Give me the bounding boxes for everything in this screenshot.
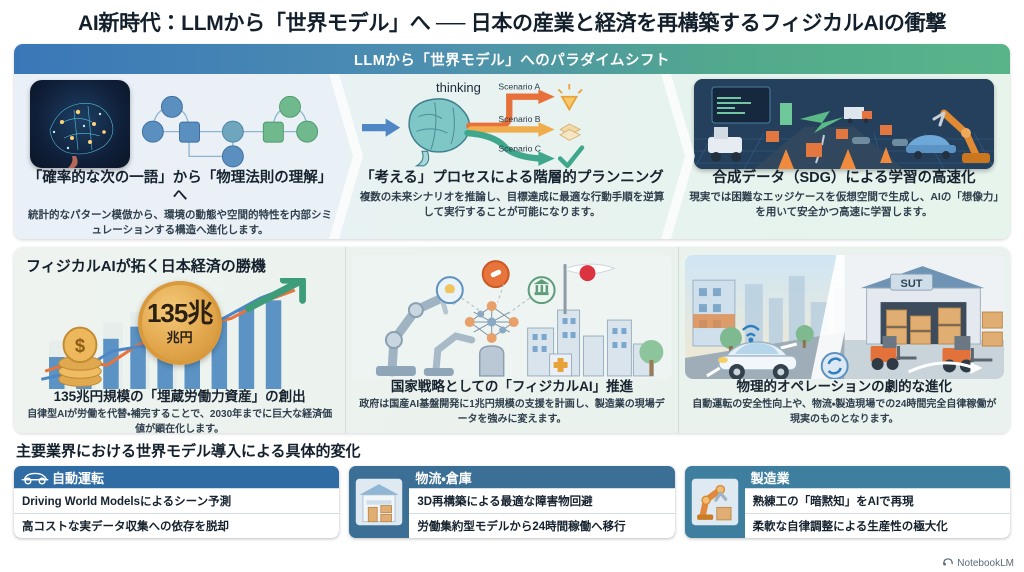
panel3-body: 現実では困難なエッジケースを仮想空間で生成し、AIの「想像力」を用いて安全かつ高… (688, 190, 1000, 220)
panel-national-strategy: 国家戦略としての「フィジカルAI」推進 政府は国産AI基盤開発に1兆円規模の支援… (345, 247, 677, 433)
panel3-heading: 合成データ（SDG）による学習の高速化 (688, 169, 1000, 187)
panel4-body: 自律型AIが労働を代替・補完することで、2030年までに巨大な経済価値が顕在化し… (26, 408, 333, 433)
card1-business-value: 高コストな実データ収集への依存を脱却 (14, 518, 229, 534)
watermark-text: NotebookLM (957, 558, 1014, 569)
panel4-caption: 135兆円規模の「埋蔵労働力資産」の創出 自律型AIが労働を代替・補完することで… (20, 389, 339, 433)
panel5-body: 政府は国産AI基盤開発に1兆円規模の支援を計画し、製造業の現場データを強みに変え… (358, 398, 665, 427)
robot-arm-icon (685, 466, 745, 538)
card2-body: 物流・倉庫 3D再構築による最適な障害物回避 労働集約型モデルから24時間稼働へ… (409, 466, 674, 538)
panel1-caption: 「確率的な次の一語」から「物理法則の理解」へ 統計的なパターン模倣から、環境の動… (14, 169, 346, 239)
card3-header: 製造業 (745, 466, 1010, 488)
svg-text:Scenario A: Scenario A (498, 81, 540, 91)
autonomous-driving-warehouse-icon: SUT (685, 255, 1004, 379)
car-icon (20, 469, 46, 485)
thinking-label: thinking (436, 80, 481, 95)
card2-business-value: 労働集約型モデルから24時間稼働へ移行 (409, 518, 625, 534)
table-row: 技術的変化 Driving World Modelsによるシーン予測 (14, 488, 339, 513)
card-manufacturing[interactable]: 製造業 熟練工の「暗黙知」をAIで再現 柔軟な自律調整による生産性の極大化 (685, 466, 1010, 538)
svg-text:Scenario C: Scenario C (498, 143, 541, 153)
card3-tech-value: 熟練工の「暗黙知」をAIで再現 (745, 493, 914, 509)
watermark: NotebookLM (942, 556, 1014, 570)
card1-body: 自動運転 技術的変化 Driving World Modelsによるシーン予測 … (14, 466, 339, 538)
card2-header: 物流・倉庫 (409, 466, 674, 488)
card3-business-value: 柔軟な自律調整による生産性の極大化 (745, 518, 948, 534)
panel-synthetic-data: 合成データ（SDG）による学習の高速化 現実では困難なエッジケースを仮想空間で生… (678, 74, 1010, 239)
section1-banner: LLMから「世界モデル」へのパラダイムシフト (14, 44, 1010, 74)
panel3-caption: 合成データ（SDG）による学習の高速化 現実では困難なエッジケースを仮想空間で生… (678, 169, 1010, 221)
section3-heading: 主要業界における世界モデル導入による具体的変化 (14, 440, 1010, 461)
section1-panels: 「確率的な次の一語」から「物理法則の理解」へ 統計的なパターン模倣から、環境の動… (14, 74, 1010, 239)
coin-value: 135兆 (147, 300, 212, 326)
card1-header: 自動運転 (14, 466, 339, 488)
car-warehouse-art: SUT (685, 255, 1004, 379)
card1-industry: 自動運転 (52, 468, 104, 487)
robots-japan-art (352, 255, 671, 379)
panel2-caption: 「考える」プロセスによる階層的プランニング 複数の未来シナリオを推論し、目標達成… (346, 169, 678, 221)
coin-unit: 兆円 (167, 327, 193, 346)
panel1-body: 統計的なパターン模倣から、環境の動態や空間的特性を内部シミュレーションする構造へ… (24, 208, 336, 238)
thinking-scenarios-art: thinking (346, 74, 678, 169)
warehouse-sign-text: SUT (900, 278, 922, 290)
panel6-caption: 物理的オペレーションの劇的な進化 自動運転の安全性向上や、物流・製造現場での24… (685, 379, 1004, 429)
svg-text:Scenario B: Scenario B (498, 114, 540, 124)
card1-tech-value: Driving World Modelsによるシーン予測 (14, 493, 231, 509)
table-row: 熟練工の「暗黙知」をAIで再現 (745, 488, 1010, 513)
brain-network-art (14, 74, 346, 169)
robots-network-flag-icon (352, 255, 671, 379)
panel-world-model: 「確率的な次の一語」から「物理法則の理解」へ 統計的なパターン模倣から、環境の動… (14, 74, 346, 239)
table-row: ビジネスへの影響 高コストな実データ収集への依存を脱却 (14, 513, 339, 538)
panel6-heading: 物理的オペレーションの劇的な進化 (691, 379, 998, 396)
panel6-body: 自動運転の安全性向上や、物流・製造現場での24時間完全自律稼働が現実のものとなり… (691, 398, 998, 427)
growth-chart-art: $ 135兆 兆円 (20, 278, 339, 389)
card2-industry: 物流・倉庫 (415, 468, 471, 487)
value-badge-135cho: 135兆 兆円 (138, 281, 222, 365)
simulation-art (678, 74, 1010, 169)
table-row: 3D再構築による最適な障害物回避 (409, 488, 674, 513)
table-row: 柔軟な自律調整による生産性の極大化 (745, 513, 1010, 538)
page-title: AI新時代：LLMから「世界モデル」へ ── 日本の産業と経済を再構築するフィジ… (14, 0, 1010, 44)
section-japan-economy: フィジカルAIが拓く日本経済の勝機 (14, 247, 1010, 433)
panel-labor-asset: フィジカルAIが拓く日本経済の勝機 (14, 247, 345, 433)
panel1-heading: 「確率的な次の一語」から「物理法則の理解」へ (24, 169, 336, 205)
table-row: 労働集約型モデルから24時間稼働へ移行 (409, 513, 674, 538)
panel5-heading: 国家戦略としての「フィジカルAI」推進 (358, 379, 665, 396)
card-autonomous-driving[interactable]: 自動運転 技術的変化 Driving World Modelsによるシーン予測 … (14, 466, 339, 538)
card3-industry: 製造業 (751, 468, 790, 487)
industry-cards: 自動運転 技術的変化 Driving World Modelsによるシーン予測 … (14, 466, 1010, 538)
panel-physical-operations: SUT (678, 247, 1010, 433)
notebooklm-logo-icon (942, 556, 954, 570)
panel4-heading: 135兆円規模の「埋蔵労働力資産」の創出 (26, 389, 333, 406)
node-graph-icon (130, 80, 330, 168)
card3-body: 製造業 熟練工の「暗黙知」をAIで再現 柔軟な自律調整による生産性の極大化 (745, 466, 1010, 538)
warehouse-icon (349, 466, 409, 538)
simulation-scene-icon (694, 79, 994, 169)
svg-text:$: $ (75, 335, 86, 356)
section2-heading: フィジカルAIが拓く日本経済の勝機 (20, 253, 339, 276)
card-logistics-warehouse[interactable]: 物流・倉庫 3D再構築による最適な障害物回避 労働集約型モデルから24時間稼働へ… (349, 466, 674, 538)
infographic-page: AI新時代：LLMから「世界モデル」へ ── 日本の産業と経済を再構築するフィジ… (0, 0, 1024, 572)
brain-icon (30, 80, 130, 168)
card2-tech-value: 3D再構築による最適な障害物回避 (409, 493, 592, 509)
panel5-caption: 国家戦略としての「フィジカルAI」推進 政府は国産AI基盤開発に1兆円規模の支援… (352, 379, 671, 429)
panel2-body: 複数の未来シナリオを推論し、目標達成に最適な行動手順を逆算して実行することが可能… (356, 190, 668, 220)
section-paradigm-shift: LLMから「世界モデル」へのパラダイムシフト (14, 44, 1010, 239)
panel2-heading: 「考える」プロセスによる階層的プランニング (356, 169, 668, 187)
panel-hierarchical-planning: thinking (346, 74, 678, 239)
